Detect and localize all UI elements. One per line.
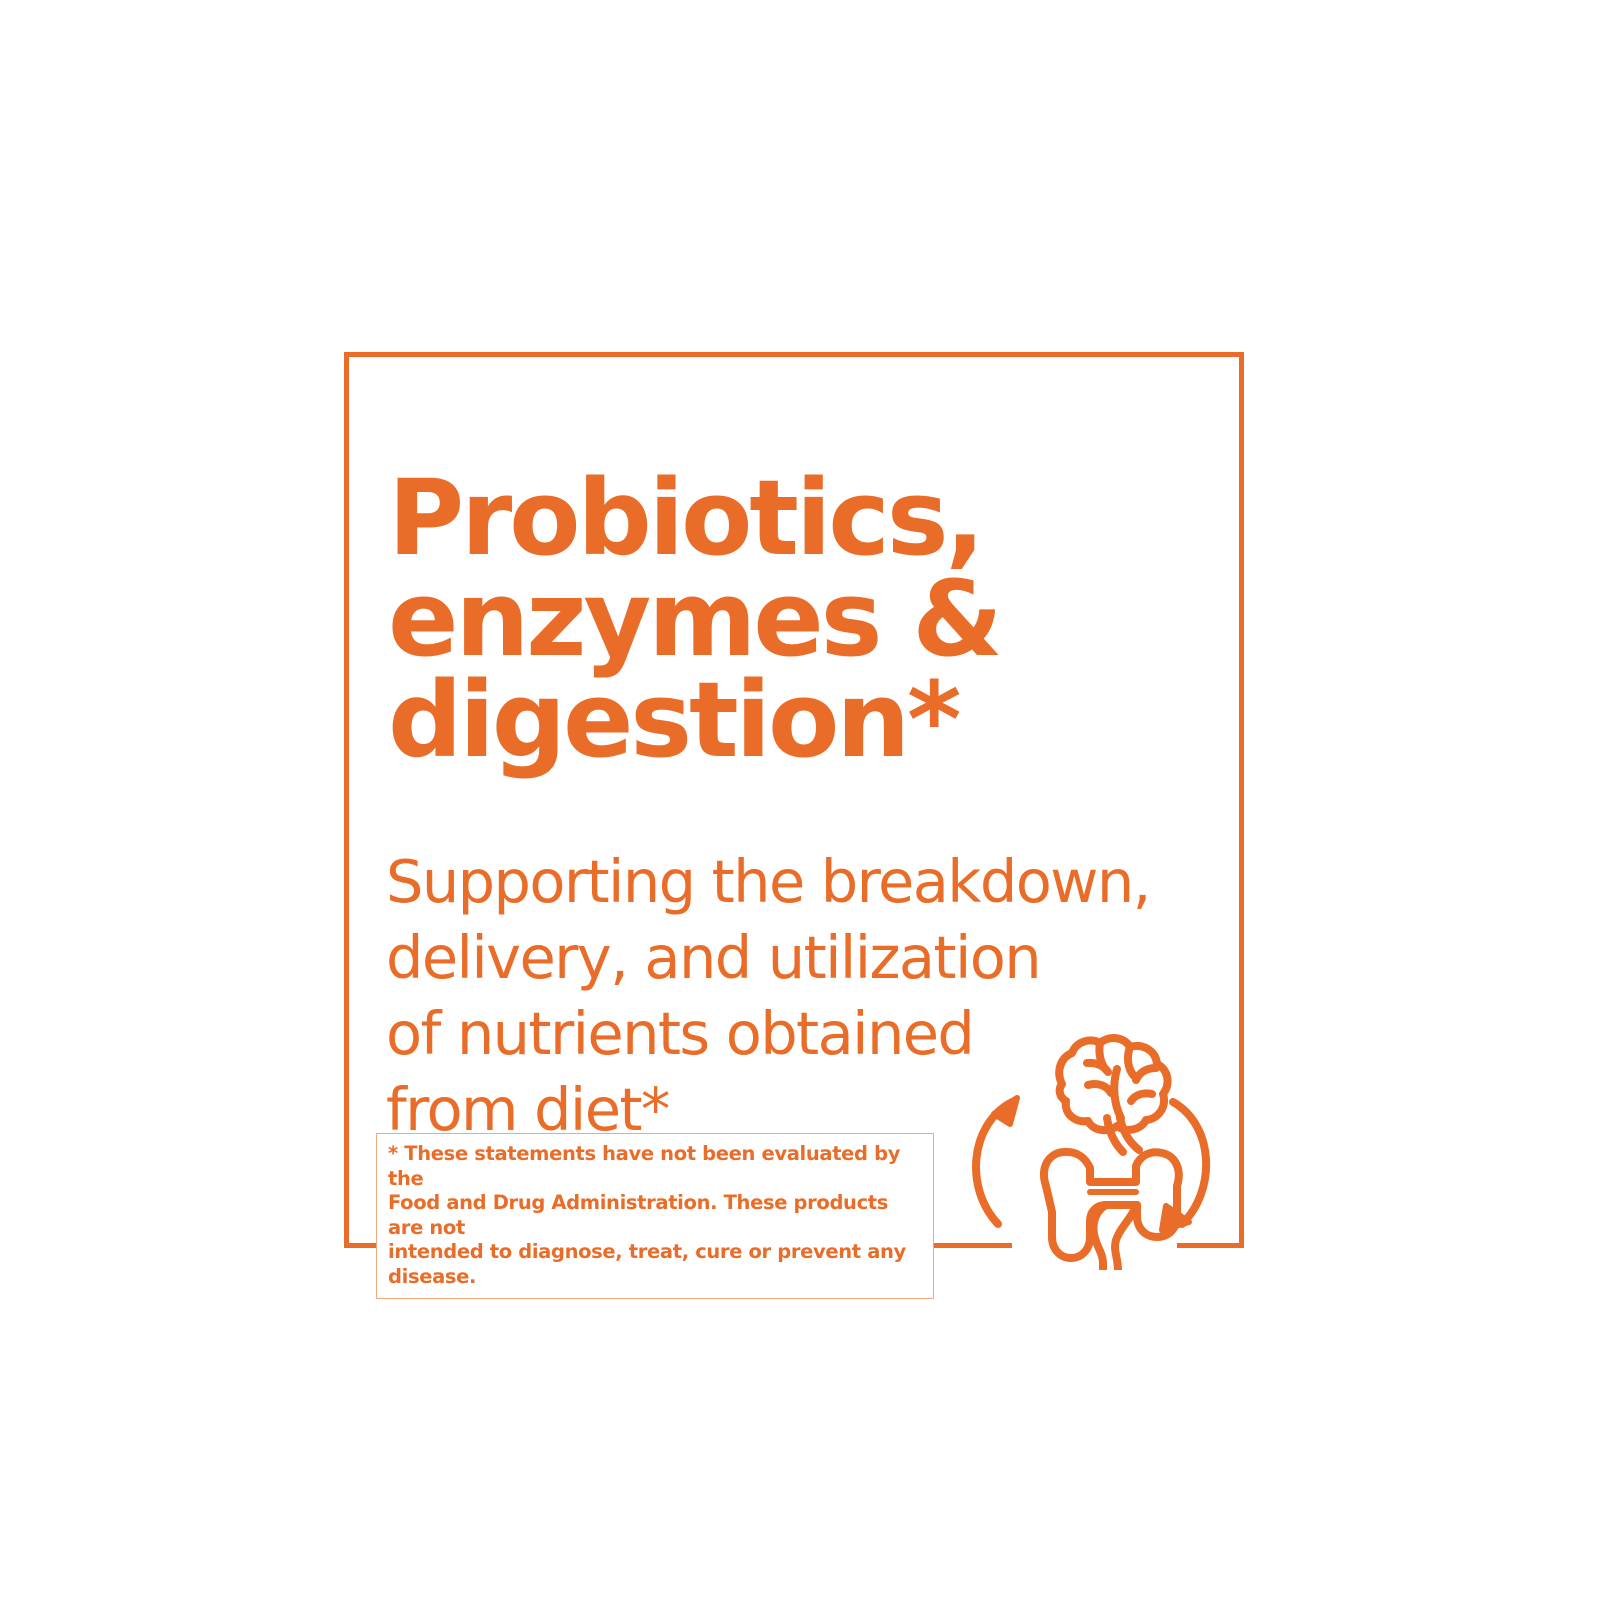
benefit-card: Probiotics, enzymes & digestion* Support… (0, 0, 1600, 1600)
card-border-right (1239, 352, 1244, 1248)
card-border-left (344, 352, 349, 1248)
disclaimer-text: * These statements have not been evaluat… (388, 1142, 923, 1289)
card-border-top (344, 352, 1244, 357)
disclaimer-box: * These statements have not been evaluat… (376, 1133, 934, 1299)
gut-brain-axis-icon (960, 1006, 1220, 1270)
page-title: Probiotics, enzymes & digestion* (388, 468, 1188, 771)
